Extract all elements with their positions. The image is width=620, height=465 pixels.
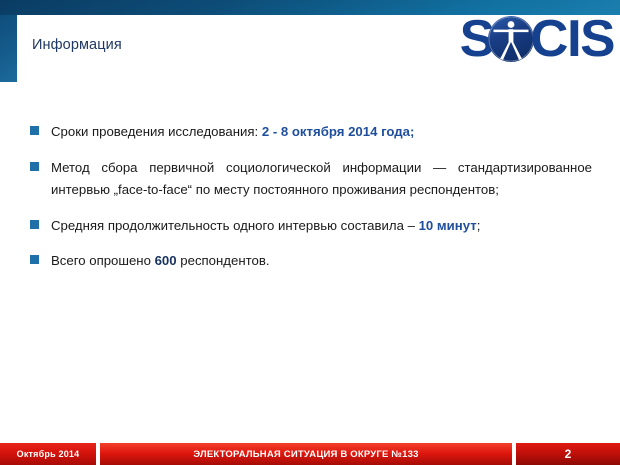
footer-date: Октябрь 2014 [0, 443, 96, 465]
socis-logo: S [460, 13, 613, 65]
bullet-text-2: Метод сбора первичной социологической ин… [51, 157, 592, 202]
bullet-4-segment-1: 600 [155, 253, 177, 268]
footer-bar: Октябрь 2014 ЭЛЕКТОРАЛЬНАЯ СИТУАЦИЯ В ОК… [0, 443, 620, 465]
footer-title: ЭЛЕКТОРАЛЬНАЯ СИТУАЦИЯ В ОКРУГЕ №133 [100, 443, 512, 465]
square-bullet-icon [30, 162, 39, 171]
list-item: Средняя продолжительность одного интервь… [30, 215, 592, 238]
bullet-text-3: Средняя продолжительность одного интервь… [51, 215, 592, 238]
bullet-list: Сроки проведения исследования: 2 - 8 окт… [30, 121, 592, 273]
page-title: Информация [32, 37, 122, 53]
bullet-3-segment-2: ; [477, 218, 481, 233]
square-bullet-icon [30, 220, 39, 229]
slide: Информация S [0, 0, 620, 465]
list-item: Метод сбора первичной социологической ин… [30, 157, 592, 202]
bullet-3-segment-1: 10 минут [419, 218, 477, 233]
bullet-3-segment-0: Средняя продолжительность одного интервь… [51, 218, 419, 233]
left-accent-block [0, 15, 17, 82]
bullet-text-1: Сроки проведения исследования: 2 - 8 окт… [51, 121, 592, 144]
bullet-4-segment-0: Всего опрошено [51, 253, 155, 268]
square-bullet-icon [30, 126, 39, 135]
bullet-text-4: Всего опрошено 600 респондентов. [51, 250, 592, 273]
logo-text-after: CIS [530, 13, 614, 65]
bullet-4-segment-2: респондентов. [177, 253, 270, 268]
vitruvian-man-icon [487, 15, 535, 63]
bullet-1-segment-1: 2 - 8 октября 2014 года; [262, 124, 415, 139]
bullet-1-segment-0: Сроки проведения исследования: [51, 124, 262, 139]
square-bullet-icon [30, 255, 39, 264]
list-item: Всего опрошено 600 респондентов. [30, 250, 592, 273]
list-item: Сроки проведения исследования: 2 - 8 окт… [30, 121, 592, 144]
footer-page-number: 2 [516, 443, 620, 465]
